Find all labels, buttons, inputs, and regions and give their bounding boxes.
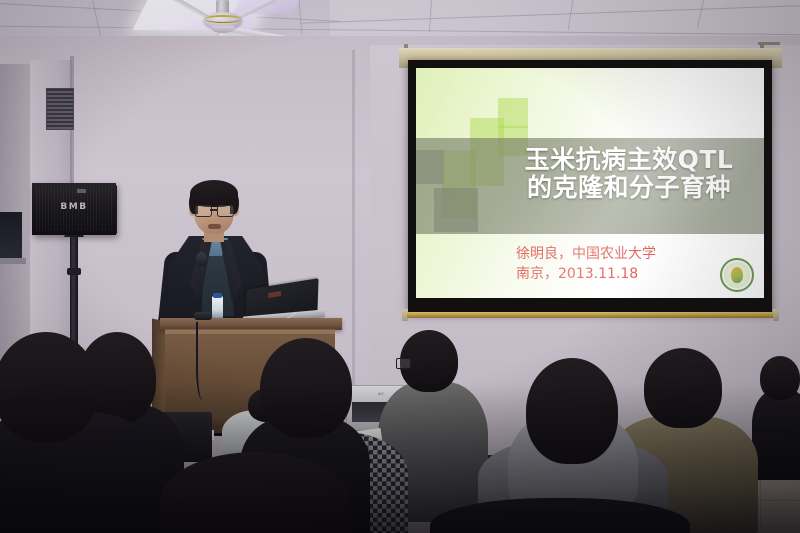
audience-head xyxy=(260,338,352,438)
lecture-hall-photo: 玉米抗病主效QTL 的克隆和分子育种 徐明良，中国农业大学 南京，2013.11… xyxy=(0,0,800,533)
audience-head xyxy=(0,332,98,442)
slide-subtitle-line-1: 徐明良，中国农业大学 xyxy=(516,244,756,264)
slide-title-line-1: 玉米抗病主效QTL xyxy=(504,146,754,174)
audience-front-right xyxy=(430,498,690,533)
screen-weight-bar xyxy=(407,312,774,318)
podium-trim xyxy=(165,330,335,334)
audience-body xyxy=(430,498,690,533)
pa-speaker-cabinet: BMB xyxy=(32,183,116,235)
maize-seal-logo-icon xyxy=(720,258,754,292)
pa-speaker-brand-label: BMB xyxy=(32,202,116,212)
glasses-icon xyxy=(195,205,212,217)
slide-decor-square xyxy=(498,98,528,128)
maize-seal-logo-kernel xyxy=(731,267,743,283)
screen-bracket-arm xyxy=(758,42,780,45)
left-dark-panel-sill xyxy=(0,258,26,264)
glasses-bridge xyxy=(210,209,217,211)
pa-speaker-badge xyxy=(77,189,86,193)
screen-surface: 玉米抗病主效QTL 的克隆和分子育种 徐明良，中国农业大学 南京，2013.11… xyxy=(416,68,764,298)
wall-vent-grille xyxy=(46,88,74,130)
audience-front-left xyxy=(0,332,160,533)
audience-body xyxy=(752,390,800,480)
left-dark-panel xyxy=(0,212,22,260)
water-bottle-cap xyxy=(213,293,222,298)
glasses-icon xyxy=(217,205,234,217)
cable-drop xyxy=(196,322,212,400)
speaker-stand-joint xyxy=(67,268,81,275)
audience-front-center xyxy=(160,452,350,533)
audience-head xyxy=(526,358,618,464)
glasses-icon xyxy=(396,358,411,369)
presenter-mouth xyxy=(208,224,221,229)
slide-title: 玉米抗病主效QTL 的克隆和分子育种 xyxy=(504,146,754,202)
microphone-head-icon xyxy=(196,252,207,266)
slide-title-line-2: 的克隆和分子育种 xyxy=(504,174,754,202)
audience-head xyxy=(160,452,350,533)
screen-case-end-right xyxy=(772,48,782,68)
screen-bar-cap-right xyxy=(773,309,779,321)
microphone-base xyxy=(194,312,212,320)
audience-head xyxy=(760,356,800,400)
presentation-slide: 玉米抗病主效QTL 的克隆和分子育种 徐明良，中国农业大学 南京，2013.11… xyxy=(416,68,764,298)
audience-far-right xyxy=(752,356,800,476)
